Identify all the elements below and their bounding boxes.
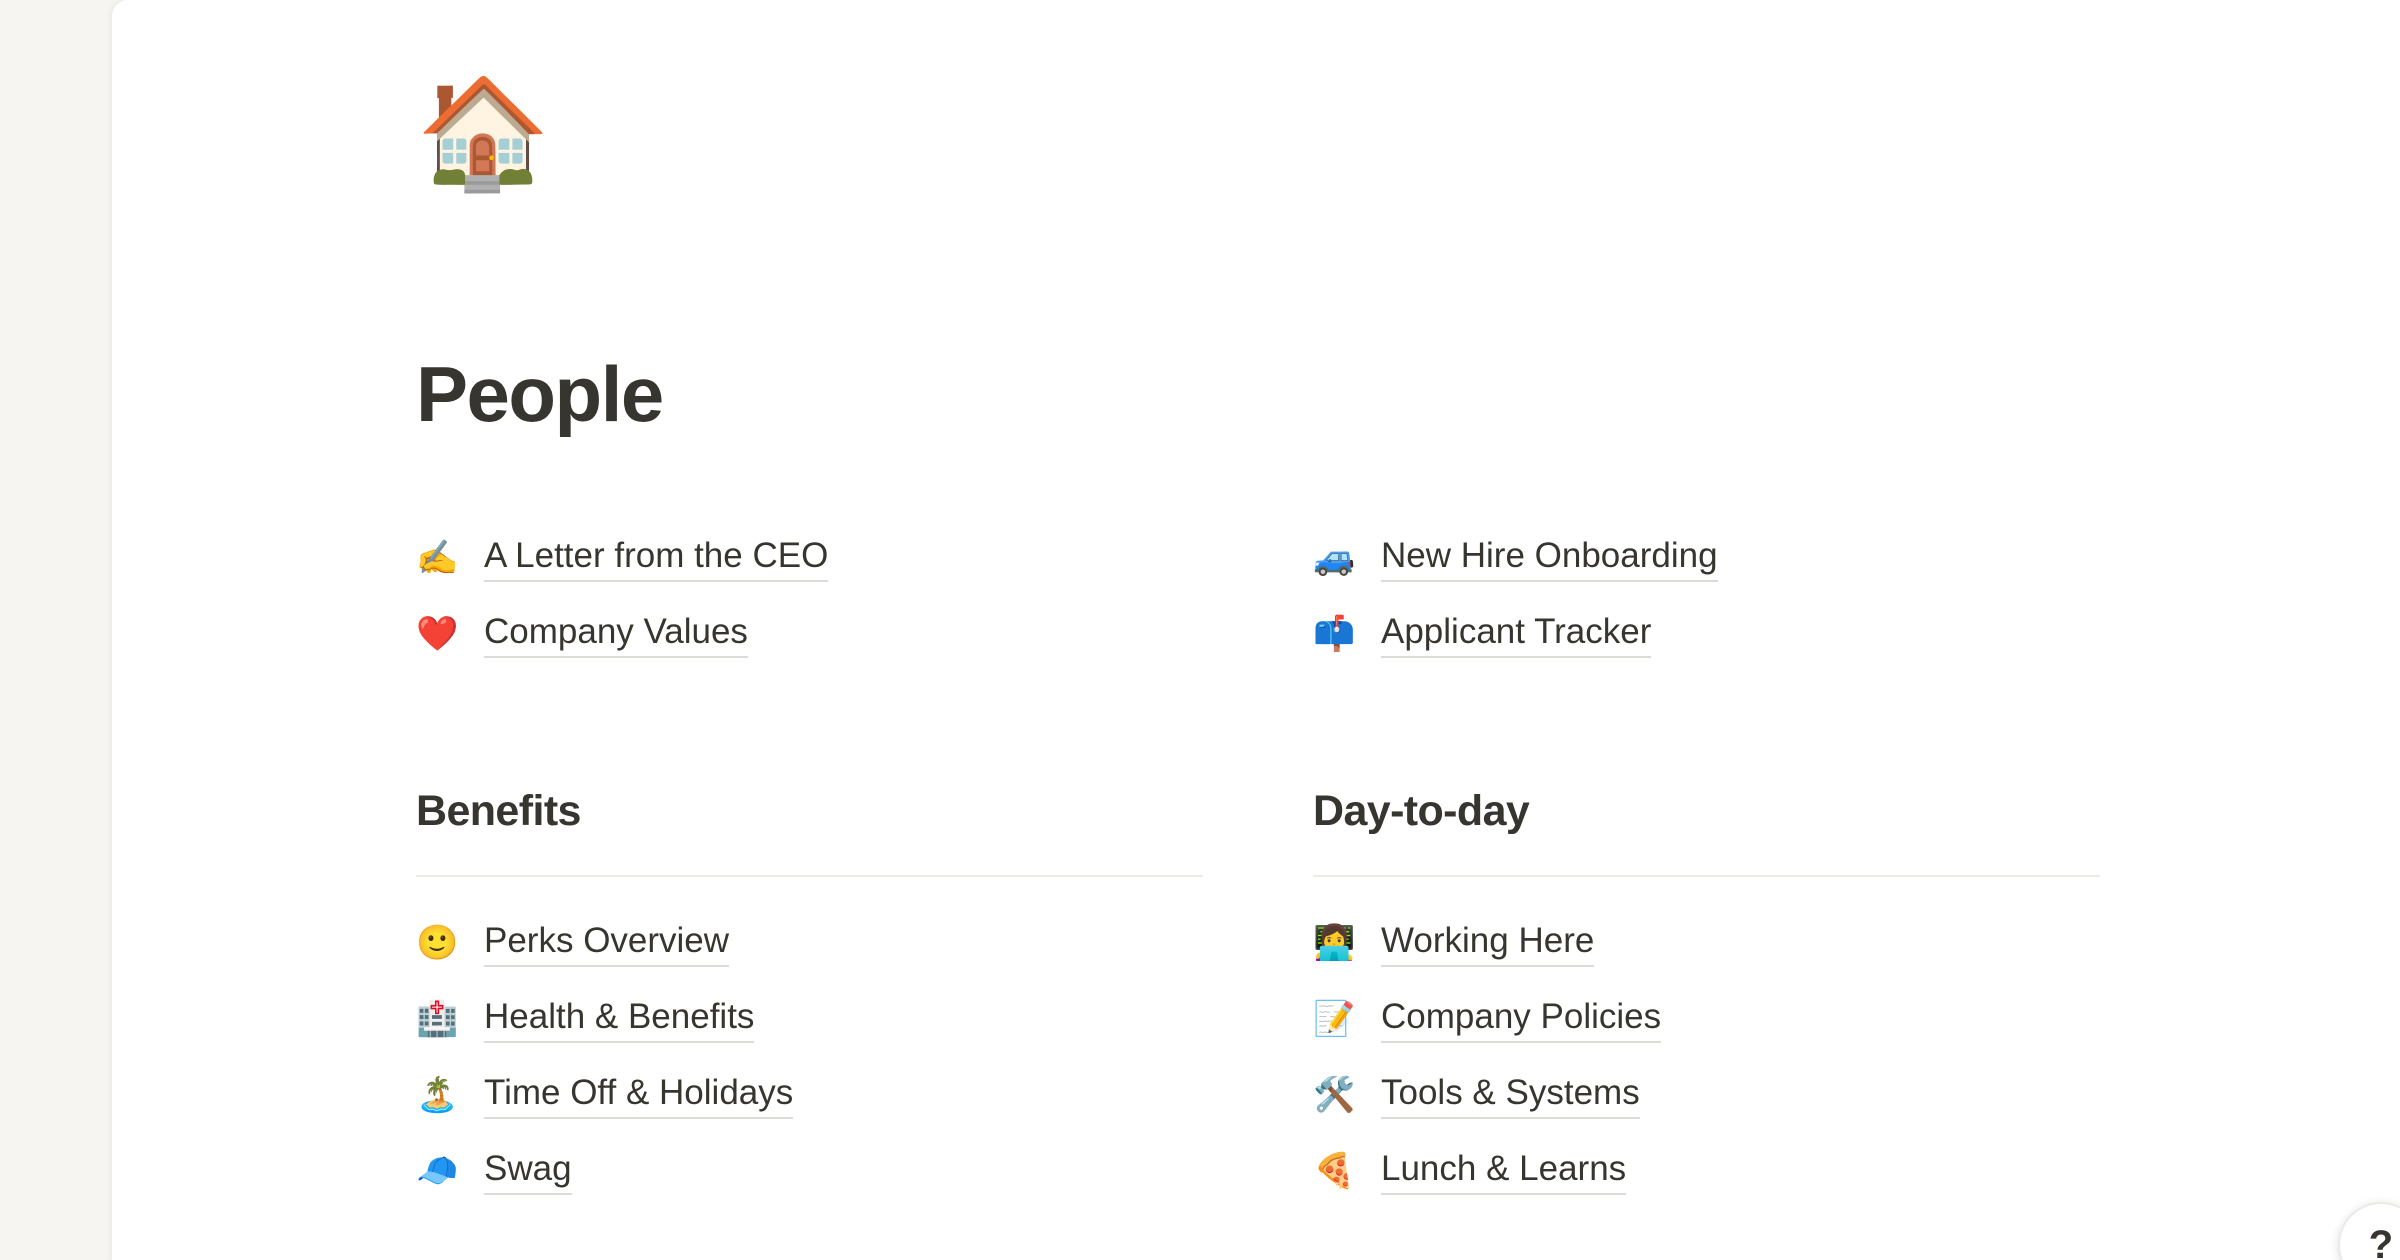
link-row-time-off-and-holidays[interactable]: 🏝️ Time Off & Holidays bbox=[416, 1057, 1203, 1133]
house-emoji[interactable]: 🏠 bbox=[416, 72, 538, 194]
hospital-emoji: 🏥 bbox=[416, 1002, 484, 1036]
spacer bbox=[1313, 672, 2100, 780]
right-column: 🚙 New Hire Onboarding 📫 Applicant Tracke… bbox=[1313, 520, 2100, 1209]
spacer bbox=[416, 672, 1203, 780]
page-body: 🏠 People ✍️ A Letter from the CEO ❤️ Com… bbox=[416, 0, 2216, 1260]
writing-hand-emoji: ✍️ bbox=[416, 541, 484, 575]
section-benefits: Benefits 🙂 Perks Overview 🏥 Health & Ben… bbox=[416, 780, 1203, 1209]
link-label[interactable]: A Letter from the CEO bbox=[484, 534, 828, 583]
link-label[interactable]: Tools & Systems bbox=[1381, 1071, 1640, 1120]
link-row-lunch-and-learns[interactable]: 🍕 Lunch & Learns bbox=[1313, 1133, 2100, 1209]
link-row-letter-from-ceo[interactable]: ✍️ A Letter from the CEO bbox=[416, 520, 1203, 596]
woman-technologist-emoji: 👩‍💻 bbox=[1313, 926, 1381, 960]
desert-island-emoji: 🏝️ bbox=[416, 1078, 484, 1112]
link-label[interactable]: Company Policies bbox=[1381, 995, 1661, 1044]
section-day-to-day: Day-to-day 👩‍💻 Working Here 📝 Company Po… bbox=[1313, 780, 2100, 1209]
link-row-health-and-benefits[interactable]: 🏥 Health & Benefits bbox=[416, 981, 1203, 1057]
link-label[interactable]: Lunch & Learns bbox=[1381, 1147, 1626, 1196]
link-label[interactable]: Company Values bbox=[484, 610, 748, 659]
slightly-smiling-face-emoji: 🙂 bbox=[416, 926, 484, 960]
section-heading-day-to-day: Day-to-day bbox=[1313, 780, 2100, 833]
link-row-applicant-tracker[interactable]: 📫 Applicant Tracker bbox=[1313, 596, 2100, 672]
content-columns: ✍️ A Letter from the CEO ❤️ Company Valu… bbox=[416, 520, 2216, 1209]
billed-cap-emoji: 🧢 bbox=[416, 1154, 484, 1188]
benefits-link-list: 🙂 Perks Overview 🏥 Health & Benefits 🏝️ … bbox=[416, 905, 1203, 1209]
section-divider bbox=[1313, 875, 2100, 877]
link-row-swag[interactable]: 🧢 Swag bbox=[416, 1133, 1203, 1209]
link-row-company-policies[interactable]: 📝 Company Policies bbox=[1313, 981, 2100, 1057]
help-button[interactable]: ? bbox=[2338, 1202, 2400, 1260]
link-label[interactable]: Swag bbox=[484, 1147, 572, 1196]
link-row-tools-and-systems[interactable]: 🛠️ Tools & Systems bbox=[1313, 1057, 2100, 1133]
quick-links-right: 🚙 New Hire Onboarding 📫 Applicant Tracke… bbox=[1313, 520, 2100, 672]
left-column: ✍️ A Letter from the CEO ❤️ Company Valu… bbox=[416, 520, 1203, 1209]
link-label[interactable]: Health & Benefits bbox=[484, 995, 754, 1044]
mailbox-emoji: 📫 bbox=[1313, 617, 1381, 651]
section-divider bbox=[416, 875, 1203, 877]
red-heart-emoji: ❤️ bbox=[416, 617, 484, 651]
page-content-panel: 🏠 People ✍️ A Letter from the CEO ❤️ Com… bbox=[112, 0, 2400, 1260]
hammer-and-wrench-emoji: 🛠️ bbox=[1313, 1078, 1381, 1112]
blue-car-emoji: 🚙 bbox=[1313, 541, 1381, 575]
page-title: People bbox=[416, 355, 663, 433]
collapsed-sidebar[interactable] bbox=[0, 0, 118, 1260]
section-heading-benefits: Benefits bbox=[416, 780, 1203, 833]
link-row-perks-overview[interactable]: 🙂 Perks Overview bbox=[416, 905, 1203, 981]
app-root: 🏠 People ✍️ A Letter from the CEO ❤️ Com… bbox=[0, 0, 2400, 1260]
link-label[interactable]: Time Off & Holidays bbox=[484, 1071, 793, 1120]
quick-links-left: ✍️ A Letter from the CEO ❤️ Company Valu… bbox=[416, 520, 1203, 672]
link-row-new-hire-onboarding[interactable]: 🚙 New Hire Onboarding bbox=[1313, 520, 2100, 596]
pizza-emoji: 🍕 bbox=[1313, 1154, 1381, 1188]
link-label[interactable]: New Hire Onboarding bbox=[1381, 534, 1718, 583]
link-label[interactable]: Perks Overview bbox=[484, 919, 729, 968]
memo-emoji: 📝 bbox=[1313, 1002, 1381, 1036]
link-row-company-values[interactable]: ❤️ Company Values bbox=[416, 596, 1203, 672]
day-to-day-link-list: 👩‍💻 Working Here 📝 Company Policies 🛠️ T… bbox=[1313, 905, 2100, 1209]
link-row-working-here[interactable]: 👩‍💻 Working Here bbox=[1313, 905, 2100, 981]
link-label[interactable]: Applicant Tracker bbox=[1381, 610, 1651, 659]
link-label[interactable]: Working Here bbox=[1381, 919, 1594, 968]
